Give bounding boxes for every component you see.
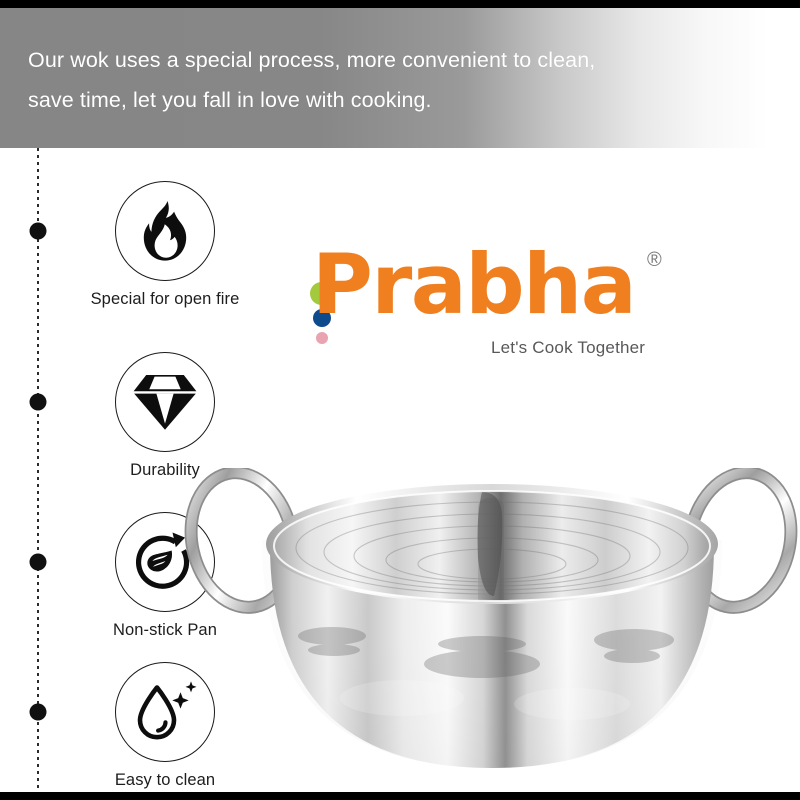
logo-dot-pink — [316, 332, 328, 344]
feature-label: Special for open fire — [60, 290, 270, 309]
registered-trademark-icon: ® — [647, 249, 662, 272]
headline-text: Our wok uses a special process, more con… — [28, 40, 728, 120]
brand-logo: Prabha ® Let's Cook Together — [306, 243, 676, 363]
logo-wordmark: Prabha — [312, 240, 635, 330]
logo-tagline: Let's Cook Together — [491, 338, 645, 358]
bottom-black-bar — [0, 792, 800, 800]
timeline-bullet-1 — [30, 223, 47, 240]
feature-item-durability: Durability — [60, 352, 270, 480]
feature-icon-circle — [115, 181, 215, 281]
timeline-bullet-3 — [30, 554, 47, 571]
diamond-icon — [132, 373, 198, 431]
timeline-bullet-4 — [30, 704, 47, 721]
product-feature-banner: Our wok uses a special process, more con… — [0, 0, 800, 800]
feature-item-open-fire: Special for open fire — [60, 181, 270, 309]
feature-icon-circle — [115, 352, 215, 452]
flame-icon — [137, 200, 193, 262]
top-black-bar — [0, 0, 800, 8]
header-banner: Our wok uses a special process, more con… — [0, 8, 800, 148]
timeline-dotted-line — [37, 148, 39, 792]
timeline-bullet-2 — [30, 394, 47, 411]
product-image-wok — [182, 468, 800, 798]
